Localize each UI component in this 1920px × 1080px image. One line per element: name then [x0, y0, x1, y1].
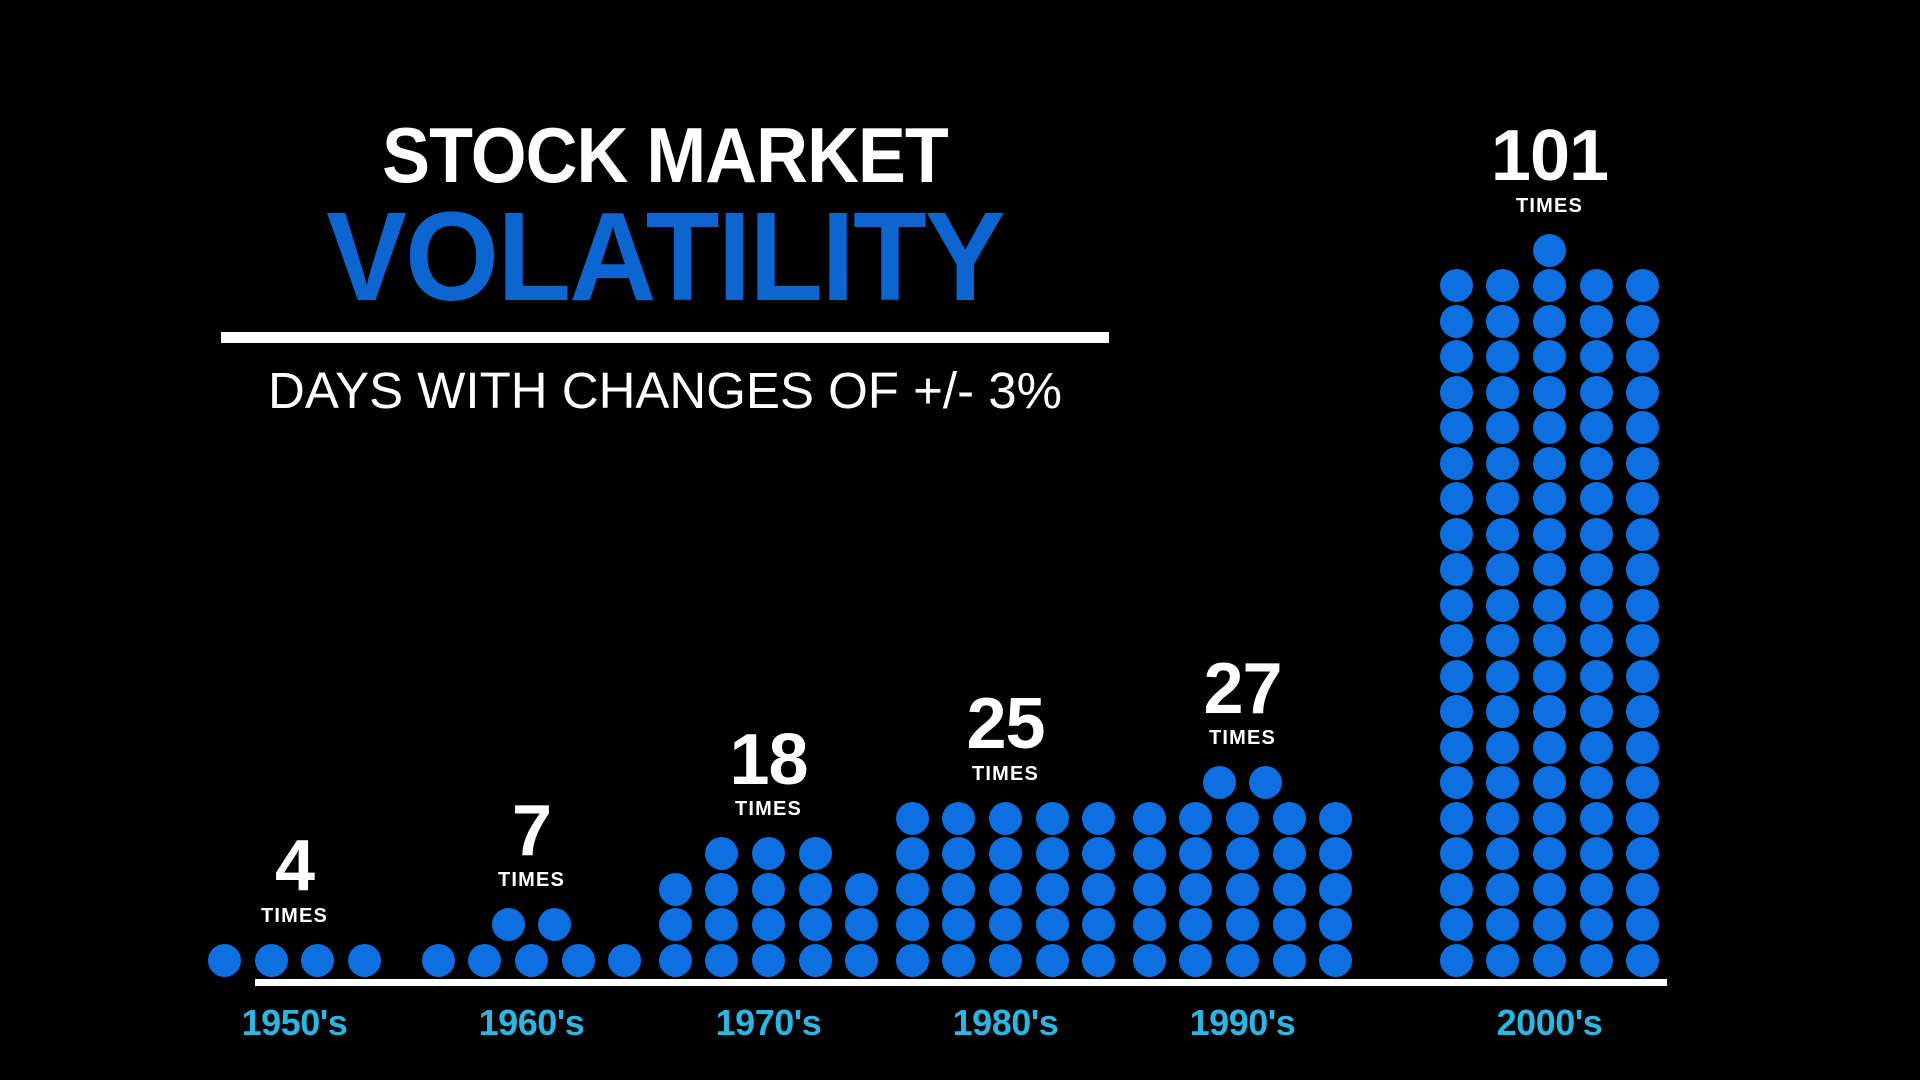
dot-marker — [1580, 447, 1613, 480]
dot-marker — [752, 837, 785, 870]
dot-marker — [1533, 837, 1566, 870]
dot-marker — [1626, 447, 1659, 480]
dot-marker — [1533, 660, 1566, 693]
dot-marker — [1440, 553, 1473, 586]
dot-marker — [1486, 269, 1519, 302]
decade-label-1950s: 1950's — [177, 1002, 412, 1044]
dot-marker — [1533, 234, 1566, 267]
dot-marker — [348, 944, 381, 977]
dot-row — [1433, 802, 1666, 838]
dot-marker — [1626, 660, 1659, 693]
dot-marker — [1626, 944, 1659, 977]
dot-marker — [1626, 695, 1659, 728]
dot-marker — [1179, 908, 1212, 941]
dot-row — [1433, 766, 1666, 802]
dot-marker — [1203, 766, 1236, 799]
chart-baseline — [255, 979, 1667, 986]
dot-marker — [1036, 944, 1069, 977]
dot-marker — [799, 873, 832, 906]
dot-marker — [1440, 447, 1473, 480]
column-unit-label: TIMES — [972, 763, 1039, 786]
decade-label-1960s: 1960's — [414, 1002, 649, 1044]
dot-marker — [989, 873, 1022, 906]
dot-marker — [752, 908, 785, 941]
dot-marker — [1533, 766, 1566, 799]
dot-marker — [989, 802, 1022, 835]
dot-marker — [896, 837, 929, 870]
dot-marker — [1486, 695, 1519, 728]
dot-marker — [1626, 376, 1659, 409]
dot-marker — [1440, 837, 1473, 870]
dot-marker — [799, 908, 832, 941]
dot-marker — [705, 944, 738, 977]
dot-marker — [422, 944, 455, 977]
dot-marker — [1580, 340, 1613, 373]
dot-marker — [799, 944, 832, 977]
dot-marker — [1626, 624, 1659, 657]
dot-marker — [1273, 802, 1306, 835]
column-unit-label: TIMES — [735, 798, 802, 821]
dot-marker — [1273, 837, 1306, 870]
dot-marker — [1082, 837, 1115, 870]
dot-marker — [1580, 908, 1613, 941]
dot-row — [889, 873, 1122, 909]
decade-label-1990s: 1990's — [1125, 1002, 1360, 1044]
dot-row — [1433, 624, 1666, 660]
dot-marker — [1440, 802, 1473, 835]
dot-marker — [1580, 411, 1613, 444]
dot-marker — [752, 944, 785, 977]
dot-marker — [1179, 873, 1212, 906]
dot-marker — [1440, 340, 1473, 373]
dot-marker — [1580, 269, 1613, 302]
dot-row — [652, 908, 885, 944]
dot-marker — [1179, 837, 1212, 870]
dot-row — [1126, 908, 1359, 944]
dot-marker — [1486, 731, 1519, 764]
dot-marker — [1133, 873, 1166, 906]
dot-marker — [208, 944, 241, 977]
column-unit-label: TIMES — [261, 905, 328, 928]
column-value: 27 — [1203, 656, 1281, 722]
dot-marker — [1533, 944, 1566, 977]
column-value: 25 — [966, 691, 1044, 757]
dot-row — [1433, 660, 1666, 696]
dot-marker — [1626, 482, 1659, 515]
dot-marker — [1533, 269, 1566, 302]
dot-marker — [1440, 624, 1473, 657]
dot-marker — [1580, 731, 1613, 764]
dot-marker — [1082, 802, 1115, 835]
dot-marker — [1440, 482, 1473, 515]
dot-marker — [1486, 518, 1519, 551]
dot-stack — [1433, 234, 1666, 980]
dot-marker — [1082, 908, 1115, 941]
dot-marker — [1179, 944, 1212, 977]
dot-marker — [1440, 660, 1473, 693]
dot-marker — [1533, 908, 1566, 941]
dot-marker — [1580, 553, 1613, 586]
dot-marker — [942, 944, 975, 977]
dot-marker — [896, 873, 929, 906]
dot-marker — [1249, 766, 1282, 799]
dot-marker — [1133, 944, 1166, 977]
dot-row — [1433, 411, 1666, 447]
dot-marker — [659, 873, 692, 906]
dot-row — [1433, 447, 1666, 483]
dot-marker — [608, 944, 641, 977]
dot-marker — [989, 944, 1022, 977]
dot-row — [1433, 944, 1666, 980]
dot-marker — [1626, 908, 1659, 941]
dot-marker — [1580, 766, 1613, 799]
dot-marker — [989, 908, 1022, 941]
dot-marker — [1486, 305, 1519, 338]
dot-marker — [1486, 837, 1519, 870]
dot-row — [1126, 802, 1359, 838]
infographic-canvas: STOCK MARKET VOLATILITY DAYS WITH CHANGE… — [0, 0, 1920, 1080]
dot-marker — [1626, 411, 1659, 444]
column-value: 101 — [1491, 123, 1608, 189]
dot-row — [699, 837, 839, 873]
dot-row — [1433, 376, 1666, 412]
decade-label-1970s: 1970's — [651, 1002, 886, 1044]
chart-column-1950s: 4TIMES — [177, 833, 412, 979]
dot-stack — [1126, 766, 1359, 979]
dot-marker — [1440, 589, 1473, 622]
dot-marker — [942, 873, 975, 906]
dot-marker — [1036, 873, 1069, 906]
dot-marker — [1440, 766, 1473, 799]
dot-marker — [1486, 660, 1519, 693]
dot-marker — [1486, 447, 1519, 480]
dot-row — [415, 944, 648, 980]
dot-marker — [1082, 873, 1115, 906]
dot-marker — [1440, 731, 1473, 764]
dot-marker — [1533, 482, 1566, 515]
dot-marker — [1580, 624, 1613, 657]
dot-marker — [1580, 695, 1613, 728]
dot-row — [1433, 908, 1666, 944]
dot-row — [1433, 589, 1666, 625]
dot-marker — [1626, 553, 1659, 586]
dot-marker — [1486, 908, 1519, 941]
column-unit-label: TIMES — [498, 869, 565, 892]
dot-row — [889, 944, 1122, 980]
dot-marker — [1533, 624, 1566, 657]
dot-marker — [942, 837, 975, 870]
dot-marker — [1626, 340, 1659, 373]
dot-marker — [515, 944, 548, 977]
dot-marker — [1486, 376, 1519, 409]
dot-stack — [201, 944, 387, 980]
dot-marker — [1626, 305, 1659, 338]
dot-marker — [1533, 518, 1566, 551]
dot-marker — [1533, 447, 1566, 480]
dot-chart: 4TIMES1950's7TIMES1960's18TIMES1970's25T… — [0, 0, 1920, 1080]
dot-marker — [1273, 944, 1306, 977]
dot-marker — [1440, 695, 1473, 728]
dot-marker — [1580, 873, 1613, 906]
dot-marker — [1226, 802, 1259, 835]
dot-marker — [845, 944, 878, 977]
dot-marker — [1319, 908, 1352, 941]
dot-marker — [1533, 305, 1566, 338]
dot-row — [1433, 873, 1666, 909]
dot-marker — [1486, 944, 1519, 977]
decade-label-2000s: 2000's — [1432, 1002, 1667, 1044]
dot-marker — [1533, 589, 1566, 622]
dot-marker — [1626, 731, 1659, 764]
dot-row — [485, 908, 578, 944]
dot-marker — [1626, 873, 1659, 906]
dot-marker — [1533, 376, 1566, 409]
dot-marker — [1179, 802, 1212, 835]
dot-row — [1433, 269, 1666, 305]
dot-row — [1433, 731, 1666, 767]
dot-marker — [1440, 908, 1473, 941]
dot-marker — [1440, 411, 1473, 444]
dot-marker — [1133, 837, 1166, 870]
dot-marker — [845, 908, 878, 941]
dot-marker — [1133, 908, 1166, 941]
dot-marker — [1533, 411, 1566, 444]
column-value: 18 — [729, 727, 807, 793]
dot-marker — [255, 944, 288, 977]
dot-marker — [659, 908, 692, 941]
dot-marker — [1486, 624, 1519, 657]
dot-marker — [1580, 482, 1613, 515]
dot-marker — [1533, 802, 1566, 835]
dot-marker — [705, 908, 738, 941]
dot-marker — [1319, 837, 1352, 870]
dot-marker — [942, 802, 975, 835]
chart-column-1970s: 18TIMES — [651, 727, 886, 979]
dot-row — [1433, 305, 1666, 341]
dot-row — [1433, 518, 1666, 554]
dot-row — [1433, 837, 1666, 873]
dot-marker — [1440, 376, 1473, 409]
dot-marker — [1440, 873, 1473, 906]
dot-marker — [1486, 589, 1519, 622]
dot-marker — [896, 908, 929, 941]
dot-marker — [1533, 873, 1566, 906]
dot-marker — [1486, 482, 1519, 515]
dot-marker — [1580, 589, 1613, 622]
dot-marker — [845, 873, 878, 906]
dot-marker — [896, 802, 929, 835]
dot-marker — [799, 837, 832, 870]
dot-marker — [1626, 802, 1659, 835]
dot-row — [201, 944, 387, 980]
dot-marker — [705, 837, 738, 870]
decade-label-1980s: 1980's — [888, 1002, 1123, 1044]
dot-marker — [1580, 837, 1613, 870]
chart-column-1960s: 7TIMES — [414, 798, 649, 979]
dot-marker — [1036, 908, 1069, 941]
dot-marker — [1226, 873, 1259, 906]
dot-marker — [1486, 873, 1519, 906]
dot-row — [1126, 837, 1359, 873]
dot-marker — [1533, 695, 1566, 728]
column-unit-label: TIMES — [1516, 195, 1583, 218]
dot-marker — [1273, 873, 1306, 906]
dot-marker — [1580, 802, 1613, 835]
dot-marker — [1533, 731, 1566, 764]
dot-row — [1126, 873, 1359, 909]
dot-marker — [659, 944, 692, 977]
dot-marker — [1133, 802, 1166, 835]
dot-marker — [1626, 518, 1659, 551]
dot-row — [1196, 766, 1289, 802]
column-unit-label: TIMES — [1209, 727, 1276, 750]
dot-marker — [1626, 837, 1659, 870]
dot-marker — [942, 908, 975, 941]
column-value: 4 — [275, 833, 314, 899]
dot-marker — [752, 873, 785, 906]
dot-marker — [896, 944, 929, 977]
dot-marker — [1486, 553, 1519, 586]
chart-column-1980s: 25TIMES — [888, 691, 1123, 979]
dot-marker — [1036, 802, 1069, 835]
dot-row — [889, 837, 1122, 873]
dot-marker — [1626, 589, 1659, 622]
dot-marker — [1440, 944, 1473, 977]
dot-marker — [1319, 944, 1352, 977]
dot-row — [1433, 340, 1666, 376]
dot-row — [889, 908, 1122, 944]
dot-stack — [415, 908, 648, 979]
dot-stack — [889, 802, 1122, 980]
dot-marker — [1319, 873, 1352, 906]
dot-marker — [1533, 553, 1566, 586]
dot-row — [1433, 695, 1666, 731]
dot-marker — [1440, 269, 1473, 302]
dot-marker — [989, 837, 1022, 870]
dot-row — [889, 802, 1122, 838]
dot-row — [1126, 944, 1359, 980]
dot-stack — [652, 837, 885, 979]
dot-marker — [1036, 837, 1069, 870]
dot-marker — [1580, 660, 1613, 693]
dot-row — [1526, 234, 1573, 270]
column-value: 7 — [512, 798, 551, 864]
dot-marker — [562, 944, 595, 977]
dot-marker — [1319, 802, 1352, 835]
dot-marker — [1226, 908, 1259, 941]
dot-marker — [1226, 837, 1259, 870]
dot-marker — [1486, 802, 1519, 835]
dot-marker — [1533, 340, 1566, 373]
dot-marker — [1486, 411, 1519, 444]
dot-row — [1433, 482, 1666, 518]
dot-marker — [301, 944, 334, 977]
dot-marker — [1082, 944, 1115, 977]
dot-marker — [1626, 766, 1659, 799]
dot-marker — [538, 908, 571, 941]
dot-marker — [1273, 908, 1306, 941]
dot-marker — [1440, 305, 1473, 338]
dot-marker — [492, 908, 525, 941]
dot-row — [652, 873, 885, 909]
dot-row — [652, 944, 885, 980]
dot-marker — [1226, 944, 1259, 977]
dot-marker — [1626, 269, 1659, 302]
chart-column-1990s: 27TIMES — [1125, 656, 1360, 979]
dot-marker — [705, 873, 738, 906]
dot-marker — [1580, 944, 1613, 977]
chart-column-2000s: 101TIMES — [1432, 123, 1667, 979]
dot-marker — [1580, 305, 1613, 338]
dot-marker — [1580, 376, 1613, 409]
dot-marker — [1580, 518, 1613, 551]
dot-row — [1433, 553, 1666, 589]
dot-marker — [468, 944, 501, 977]
dot-marker — [1486, 766, 1519, 799]
dot-marker — [1440, 518, 1473, 551]
dot-marker — [1486, 340, 1519, 373]
